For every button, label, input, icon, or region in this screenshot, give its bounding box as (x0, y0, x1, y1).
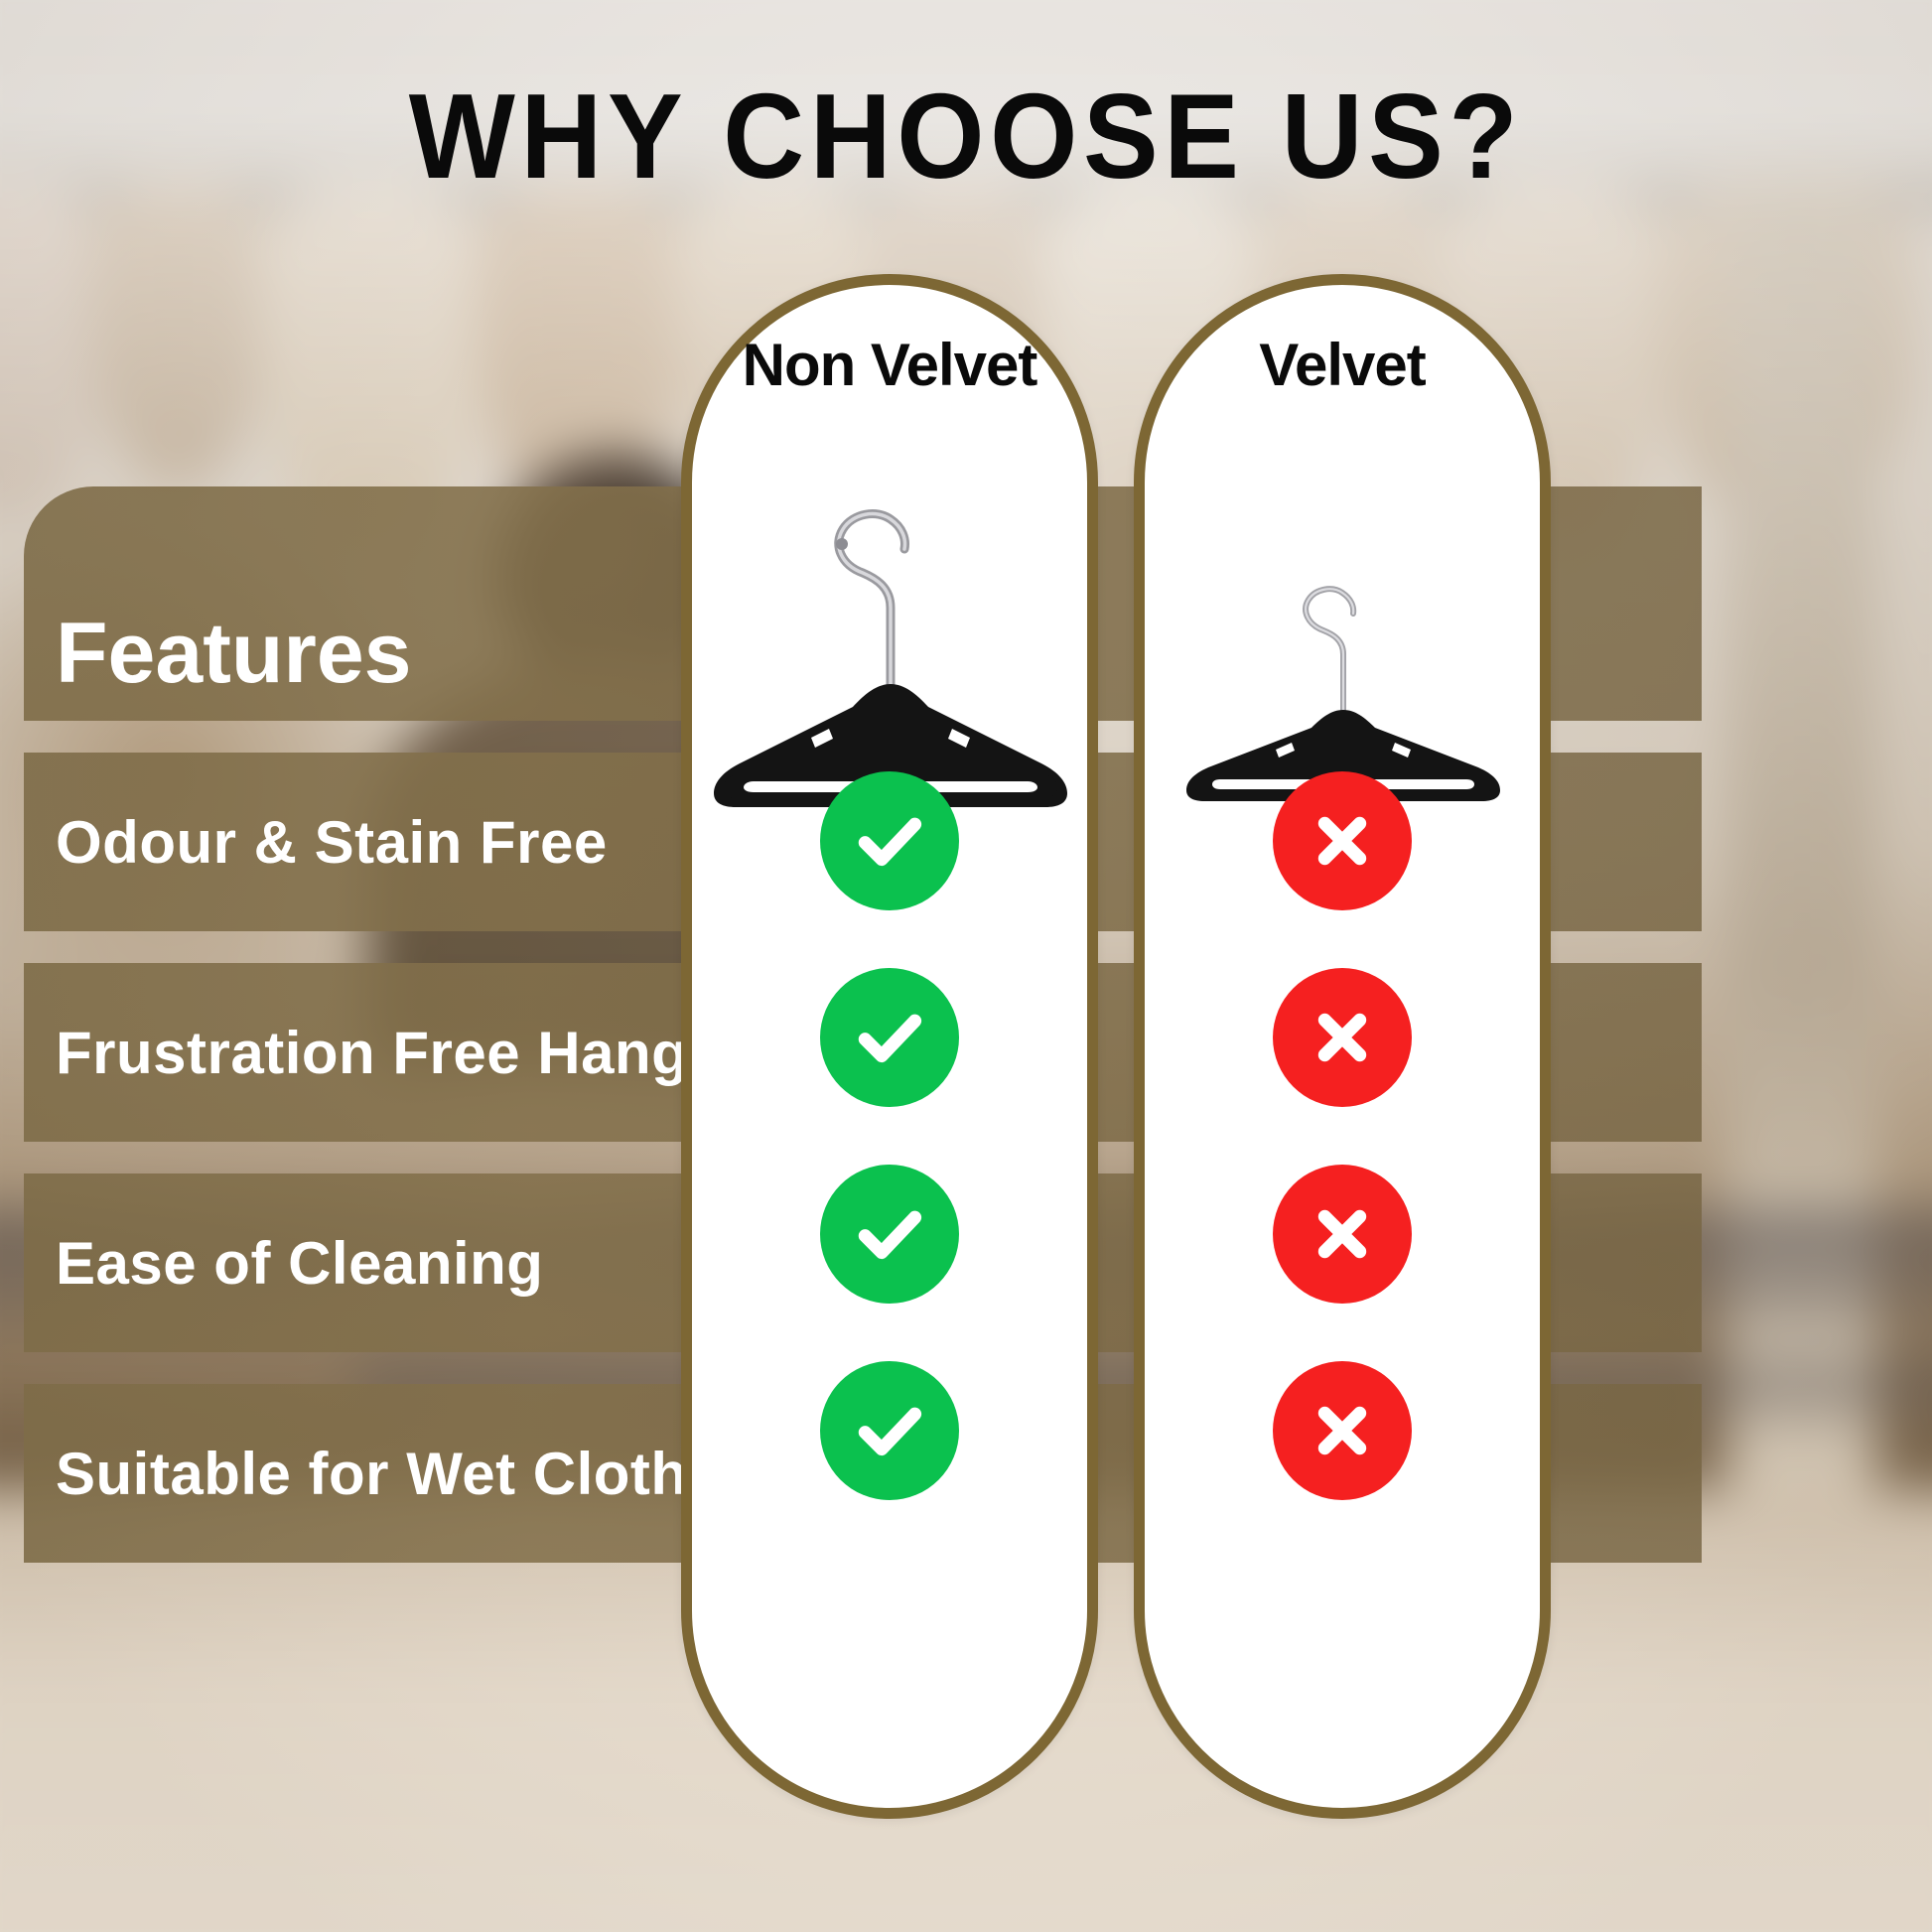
result-check (820, 771, 959, 910)
result-cross (1273, 968, 1412, 1107)
column-results (1145, 752, 1540, 1808)
page-title: WHY CHOOSE US? (68, 75, 1864, 197)
feature-label: Frustration Free Hanging (56, 1019, 779, 1087)
comparison-column-velvet[interactable]: Velvet (1134, 274, 1551, 1819)
column-results (692, 752, 1087, 1808)
check-icon (846, 1190, 933, 1278)
features-header-label: Features (56, 605, 412, 703)
column-title: Non Velvet (692, 331, 1087, 399)
feature-label: Ease of Cleaning (56, 1229, 543, 1298)
cross-icon (1299, 797, 1386, 885)
result-check (820, 1165, 959, 1304)
feature-label: Odour & Stain Free (56, 808, 608, 877)
column-title: Velvet (1145, 331, 1540, 399)
comparison-column-non-velvet[interactable]: Non Velvet (681, 274, 1098, 1819)
cross-icon (1299, 1387, 1386, 1474)
result-check (820, 968, 959, 1107)
check-icon (846, 797, 933, 885)
check-icon (846, 994, 933, 1081)
result-cross (1273, 1165, 1412, 1304)
result-check (820, 1361, 959, 1500)
result-cross (1273, 771, 1412, 910)
cross-icon (1299, 1190, 1386, 1278)
feature-label: Suitable for Wet Clothes (56, 1440, 755, 1508)
cross-icon (1299, 994, 1386, 1081)
check-icon (846, 1387, 933, 1474)
result-cross (1273, 1361, 1412, 1500)
